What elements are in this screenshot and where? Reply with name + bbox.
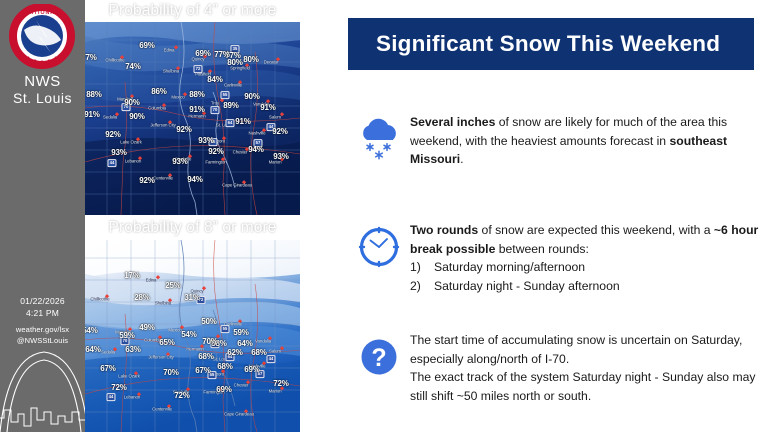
probability-value: 90% — [129, 113, 144, 121]
bullet-two-rounds: Two rounds of snow are expected this wee… — [348, 220, 760, 295]
probability-value: 91% — [189, 106, 204, 114]
probability-value: 84% — [207, 76, 222, 84]
city-label: Shelbina — [155, 302, 171, 307]
city-label: Jefferson City — [148, 356, 173, 361]
probability-value: 88% — [86, 91, 101, 99]
city-label: Chillicothe — [90, 298, 109, 303]
probability-value: 91% — [85, 111, 100, 119]
uncertainty-line-1: The start time of accumulating snow is u… — [410, 331, 760, 368]
probability-value: 92% — [208, 148, 223, 156]
probability-value: 25% — [165, 282, 180, 290]
probability-value: 64% — [237, 340, 252, 348]
probability-value: 59% — [119, 332, 134, 340]
city-label: Sedalia — [103, 116, 117, 121]
city-label: Shelbina — [163, 70, 179, 75]
city-label: Cape Girardeau — [222, 184, 252, 189]
probability-value: 67% — [100, 365, 115, 373]
city-label: Salem — [269, 116, 281, 121]
city-label: Farmington — [205, 161, 226, 166]
clock-icon — [348, 220, 410, 295]
city-label: Jefferson City — [150, 124, 175, 129]
probability-value: 31% — [184, 294, 199, 302]
probability-value: 92% — [105, 131, 120, 139]
office-name: NWS St. Louis — [0, 74, 85, 106]
bullet-snow-amounts-text: Several inches of snow are likely for mu… — [410, 112, 760, 169]
question-mark-icon: ? — [348, 330, 410, 405]
probability-value: 74% — [125, 63, 140, 71]
probability-value: 62% — [227, 349, 242, 357]
city-label: Lake Ozark — [118, 375, 139, 380]
probability-value: 93% — [198, 137, 213, 145]
probability-value: 70% — [163, 369, 178, 377]
highway-shield: 64 — [225, 119, 234, 127]
probability-value: 91% — [260, 104, 275, 112]
city-label: Marion — [269, 390, 282, 395]
city-label: Carlinville — [224, 84, 242, 89]
bullet2-plain-2: between rounds: — [495, 242, 589, 256]
map1-canvas[interactable]: ChillicotheEdinaShelbinaQuincyPittsfield… — [85, 22, 300, 215]
probability-value: 92% — [176, 126, 191, 134]
map-probability-4-inches[interactable]: Probability of 4” or more — [85, 0, 300, 215]
probability-value: 89% — [223, 102, 238, 110]
city-label: Quincy — [191, 58, 204, 63]
city-label: Edina — [164, 49, 175, 54]
round-1-number: 1) — [410, 258, 425, 277]
bullet2-bold-1: Two rounds — [410, 223, 478, 237]
probability-value: 86% — [151, 88, 166, 96]
city-label: Mexico — [168, 329, 181, 334]
probability-value: 93% — [111, 149, 126, 157]
probability-value: 90% — [244, 93, 259, 101]
issue-time: 4:21 PM — [0, 307, 85, 319]
probability-value: 64% — [85, 346, 100, 354]
highway-shield: 72 — [193, 65, 202, 73]
probability-value: 69% — [139, 42, 154, 50]
sidebar: NATIONAL NWS St. Louis 01/22/2026 4:21 P… — [0, 0, 85, 432]
city-label: Chillicothe — [105, 59, 124, 64]
probability-value: 54% — [181, 331, 196, 339]
city-label: Decatur — [264, 61, 279, 66]
bullet-two-rounds-text: Two rounds of snow are expected this wee… — [410, 220, 760, 295]
title-banner: Significant Snow This Weekend — [348, 18, 754, 70]
city-label: Cape Girardeau — [224, 413, 254, 418]
slide-root: NATIONAL NWS St. Louis 01/22/2026 4:21 P… — [0, 0, 768, 432]
bullet-uncertainty: ? The start time of accumulating snow is… — [348, 330, 760, 405]
city-label: Lake Ozark — [120, 141, 141, 146]
probability-value: 92% — [272, 128, 287, 136]
bullet-uncertainty-text: The start time of accumulating snow is u… — [410, 330, 760, 405]
bullet1-plain-2: . — [460, 152, 463, 166]
probability-value: 72% — [111, 384, 126, 392]
bullet1-bold-1: Several inches — [410, 115, 495, 129]
city-label: Edina — [146, 279, 157, 284]
probability-value: 92% — [139, 177, 154, 185]
city-label: Centerville — [153, 177, 173, 182]
svg-text:NATIONAL: NATIONAL — [25, 10, 59, 16]
probability-value: 68% — [251, 349, 266, 357]
probability-value: 69% — [216, 386, 231, 394]
probability-value: 49% — [139, 324, 154, 332]
city-label: Chester — [234, 384, 249, 389]
st-louis-arch-skyline-icon — [0, 322, 85, 432]
probability-value: 67% — [195, 367, 210, 375]
probability-value: 59% — [233, 329, 248, 337]
probability-value: 91% — [235, 118, 250, 126]
probability-value: 93% — [172, 158, 187, 166]
probability-value: 80% — [243, 56, 258, 64]
probability-value: 54% — [85, 327, 98, 335]
office-name-line1: NWS — [0, 74, 85, 91]
map2-title: Probability of 8” or more — [85, 219, 300, 237]
content-panel: Significant Snow This Weekend Several in… — [300, 0, 768, 432]
map2-canvas[interactable]: EdinaQuincyShelbinaChillicotheMexicoMars… — [85, 240, 300, 432]
city-label: Lebanon — [125, 160, 141, 165]
probability-value: 69% — [195, 50, 210, 58]
map1-title: Probability of 4” or more — [85, 2, 300, 20]
rounds-list: 1) Saturday morning/afternoon 2) Saturda… — [410, 258, 760, 295]
probability-value: 68% — [217, 363, 232, 371]
city-label: Hermann — [188, 115, 205, 120]
page-title: Significant Snow This Weekend — [376, 31, 720, 57]
city-label: Columbia — [148, 107, 166, 112]
probability-value: 90% — [124, 99, 139, 107]
highway-shield: 44 — [266, 355, 275, 363]
city-label: Lebanon — [124, 396, 140, 401]
bullet-snow-amounts: Several inches of snow are likely for mu… — [348, 112, 760, 169]
probability-value: 28% — [134, 294, 149, 302]
probability-value: 17% — [124, 272, 139, 280]
uncertainty-line-2: The exact track of the system Saturday n… — [410, 368, 760, 405]
nws-logo-icon: NATIONAL — [6, 4, 78, 72]
probability-value: 69% — [244, 366, 259, 374]
probability-value: 94% — [187, 176, 202, 184]
highway-shield: 44 — [107, 159, 116, 167]
round-2-number: 2) — [410, 277, 425, 296]
probability-value: 63% — [125, 346, 140, 354]
timestamp: 01/22/2026 4:21 PM — [0, 295, 85, 320]
city-label: Chester — [233, 151, 248, 156]
probability-value: 88% — [189, 91, 204, 99]
highway-shield: 55 — [220, 325, 229, 333]
highway-shield: 70 — [210, 106, 219, 114]
round-2-label: Saturday night - Sunday afternoon — [434, 277, 620, 296]
highway-shield: 44 — [106, 393, 115, 401]
highway-shield: 55 — [220, 91, 229, 99]
probability-value: 65% — [159, 339, 174, 347]
probability-value: 68% — [198, 353, 213, 361]
city-label: Marion — [269, 161, 282, 166]
office-name-line2: St. Louis — [0, 91, 85, 107]
probability-value: 77% — [214, 51, 229, 59]
city-label: Centerville — [152, 408, 172, 413]
probability-value: 77% — [85, 54, 97, 62]
list-item: 1) Saturday morning/afternoon — [410, 258, 760, 277]
map-probability-8-inches[interactable]: Probability of 8” or more — [85, 218, 300, 432]
city-label: Sedalia — [101, 351, 115, 356]
city-label: Vandalia — [255, 340, 271, 345]
snow-cloud-icon — [348, 112, 410, 169]
city-label: Springfield — [230, 67, 250, 72]
issue-date: 01/22/2026 — [0, 295, 85, 307]
bullet2-plain-1: of snow are expected this weekend, with … — [478, 223, 714, 237]
round-1-label: Saturday morning/afternoon — [434, 258, 585, 277]
probability-value: 93% — [273, 153, 288, 161]
city-label: Nashville — [249, 132, 266, 137]
city-label: Mexico — [171, 96, 184, 101]
probability-value: 72% — [273, 380, 288, 388]
probability-value: 50% — [201, 318, 216, 326]
list-item: 2) Saturday night - Sunday afternoon — [410, 277, 760, 296]
probability-value: 94% — [248, 146, 263, 154]
probability-value: 80% — [227, 59, 242, 67]
city-label: Salem — [269, 350, 281, 355]
probability-value: 70% — [202, 338, 217, 346]
svg-text:?: ? — [371, 344, 386, 372]
probability-value: 72% — [174, 392, 189, 400]
